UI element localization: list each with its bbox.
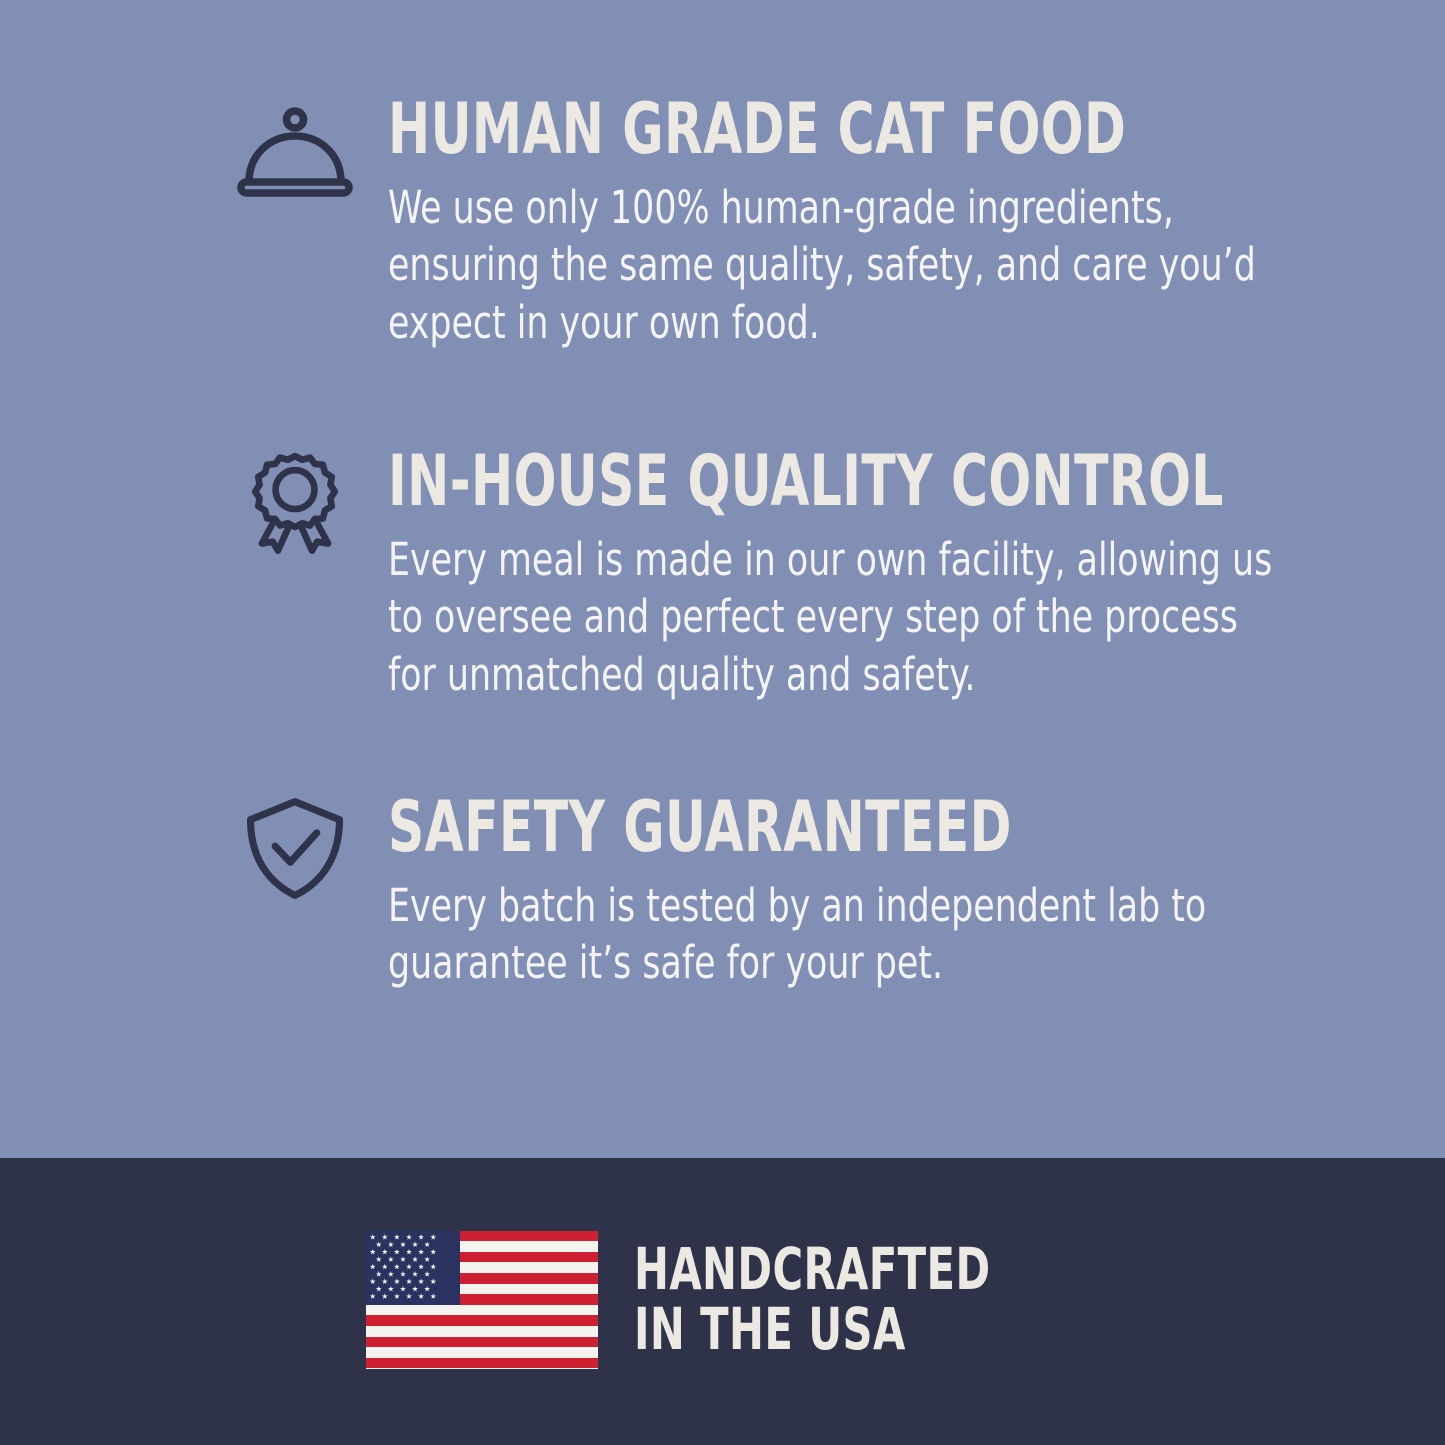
shield-check-icon	[236, 796, 354, 902]
feature-list: HUMAN GRADE CAT FOOD We use only 100% hu…	[0, 0, 1445, 1094]
cloche-icon	[236, 102, 354, 208]
feature-description: Every meal is made in our own facility, …	[388, 531, 1297, 704]
feature-description-line: Every batch is tested by an independent …	[388, 877, 1297, 935]
feature-item-human-grade: HUMAN GRADE CAT FOOD We use only 100% hu…	[0, 96, 1445, 396]
feature-description: Every batch is tested by an independent …	[388, 877, 1297, 992]
handcrafted-usa-line-1: HANDCRAFTED	[634, 1240, 991, 1299]
feature-description-line: guarantee it’s safe for your pet.	[388, 934, 1297, 992]
feature-description-line: We use only 100% human-grade ingredients…	[388, 179, 1297, 237]
feature-description-line: ensuring the same quality, safety, and c…	[388, 236, 1297, 294]
feature-description-line: for unmatched quality and safety.	[388, 646, 1297, 704]
feature-body: IN-HOUSE QUALITY CONTROL Every meal is m…	[388, 448, 1445, 703]
feature-body: SAFETY GUARANTEED Every batch is tested …	[388, 794, 1445, 992]
feature-title: IN-HOUSE QUALITY CONTROL	[388, 448, 1234, 515]
handcrafted-usa-label: HANDCRAFTED IN THE USA	[634, 1240, 991, 1358]
product-feature-infographic: HUMAN GRADE CAT FOOD We use only 100% hu…	[0, 0, 1445, 1445]
feature-description-line: to oversee and perfect every step of the…	[388, 588, 1297, 646]
feature-title: HUMAN GRADE CAT FOOD	[388, 96, 1234, 163]
feature-item-quality-control: IN-HOUSE QUALITY CONTROL Every meal is m…	[0, 448, 1445, 748]
award-ribbon-icon	[236, 448, 354, 554]
feature-title: SAFETY GUARANTEED	[388, 794, 1234, 861]
feature-description-line: expect in your own food.	[388, 294, 1297, 352]
usa-flag-icon	[366, 1231, 598, 1369]
feature-body: HUMAN GRADE CAT FOOD We use only 100% hu…	[388, 96, 1445, 351]
feature-description: We use only 100% human-grade ingredients…	[388, 179, 1297, 352]
feature-item-safety: SAFETY GUARANTEED Every batch is tested …	[0, 794, 1445, 1094]
footer-content: HANDCRAFTED IN THE USA	[366, 1231, 1080, 1369]
footer-banner: HANDCRAFTED IN THE USA	[0, 1158, 1445, 1445]
handcrafted-usa-line-2: IN THE USA	[634, 1300, 991, 1359]
feature-description-line: Every meal is made in our own facility, …	[388, 531, 1297, 589]
flag-stars	[366, 1231, 460, 1305]
